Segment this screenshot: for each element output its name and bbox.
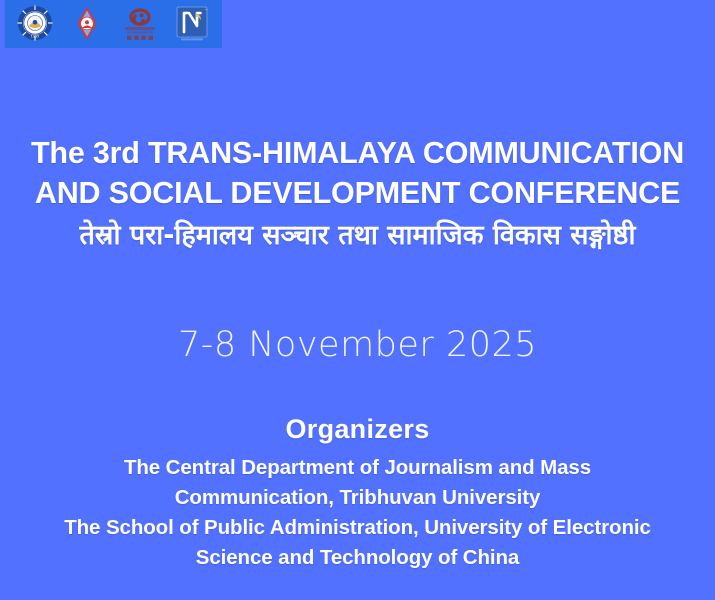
- organizer-line: Communication, Tribhuvan University: [0, 483, 715, 513]
- title-nepali: तेस्रो परा-हिमालय सञ्चार तथा सामाजिक विक…: [0, 215, 715, 257]
- svg-text:1959: 1959: [31, 35, 40, 39]
- organizer-line: The Central Department of Journalism and…: [0, 453, 715, 483]
- school-public-administration-logo: ™: [170, 4, 214, 44]
- uestc-logo: [118, 4, 162, 44]
- title-line-1: The 3rd TRANS-HIMALAYA COMMUNICATION: [0, 133, 715, 173]
- central-department-journalism-logo: [65, 4, 109, 44]
- organizers-heading: Organizers: [0, 412, 715, 446]
- logo-strip: 1959: [5, 0, 222, 48]
- organizer-line: The School of Public Administration, Uni…: [0, 513, 715, 543]
- organizer-line: Science and Technology of China: [0, 543, 715, 573]
- title-line-2: AND SOCIAL DEVELOPMENT CONFERENCE: [0, 173, 715, 213]
- conference-date: 7-8 November 2025: [0, 325, 715, 365]
- organizers-block: Organizers The Central Department of Jou…: [0, 412, 715, 573]
- conference-poster: 1959: [0, 0, 715, 600]
- organizers-list: The Central Department of Journalism and…: [0, 453, 715, 573]
- svg-text:™: ™: [204, 8, 208, 13]
- title-block: The 3rd TRANS-HIMALAYA COMMUNICATION AND…: [0, 133, 715, 257]
- tribhuvan-university-logo: 1959: [13, 4, 57, 44]
